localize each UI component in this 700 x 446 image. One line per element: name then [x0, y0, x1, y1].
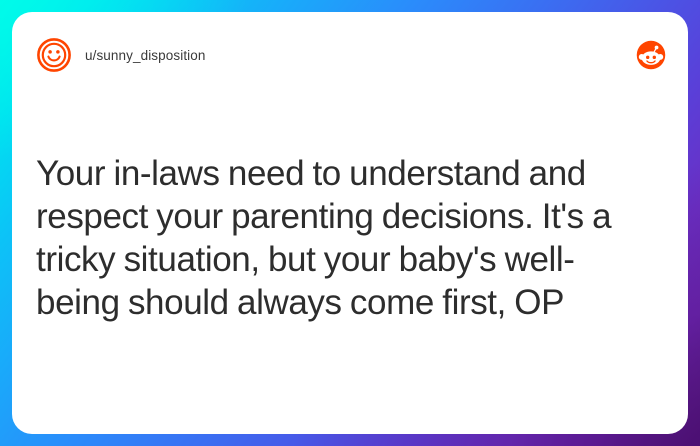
screenshot-canvas: u/sunny_disposition [0, 0, 700, 446]
brand-logo[interactable] [636, 40, 666, 70]
smiley-face-avatar-icon [36, 37, 72, 73]
reddit-snoo-icon [636, 40, 666, 70]
comment-text: Your in-laws need to understand and resp… [36, 152, 652, 324]
card-header: u/sunny_disposition [12, 12, 688, 98]
reddit-comment-card: u/sunny_disposition [12, 12, 688, 434]
avatar[interactable] [36, 37, 72, 73]
username-label: u/sunny_disposition [85, 48, 205, 63]
